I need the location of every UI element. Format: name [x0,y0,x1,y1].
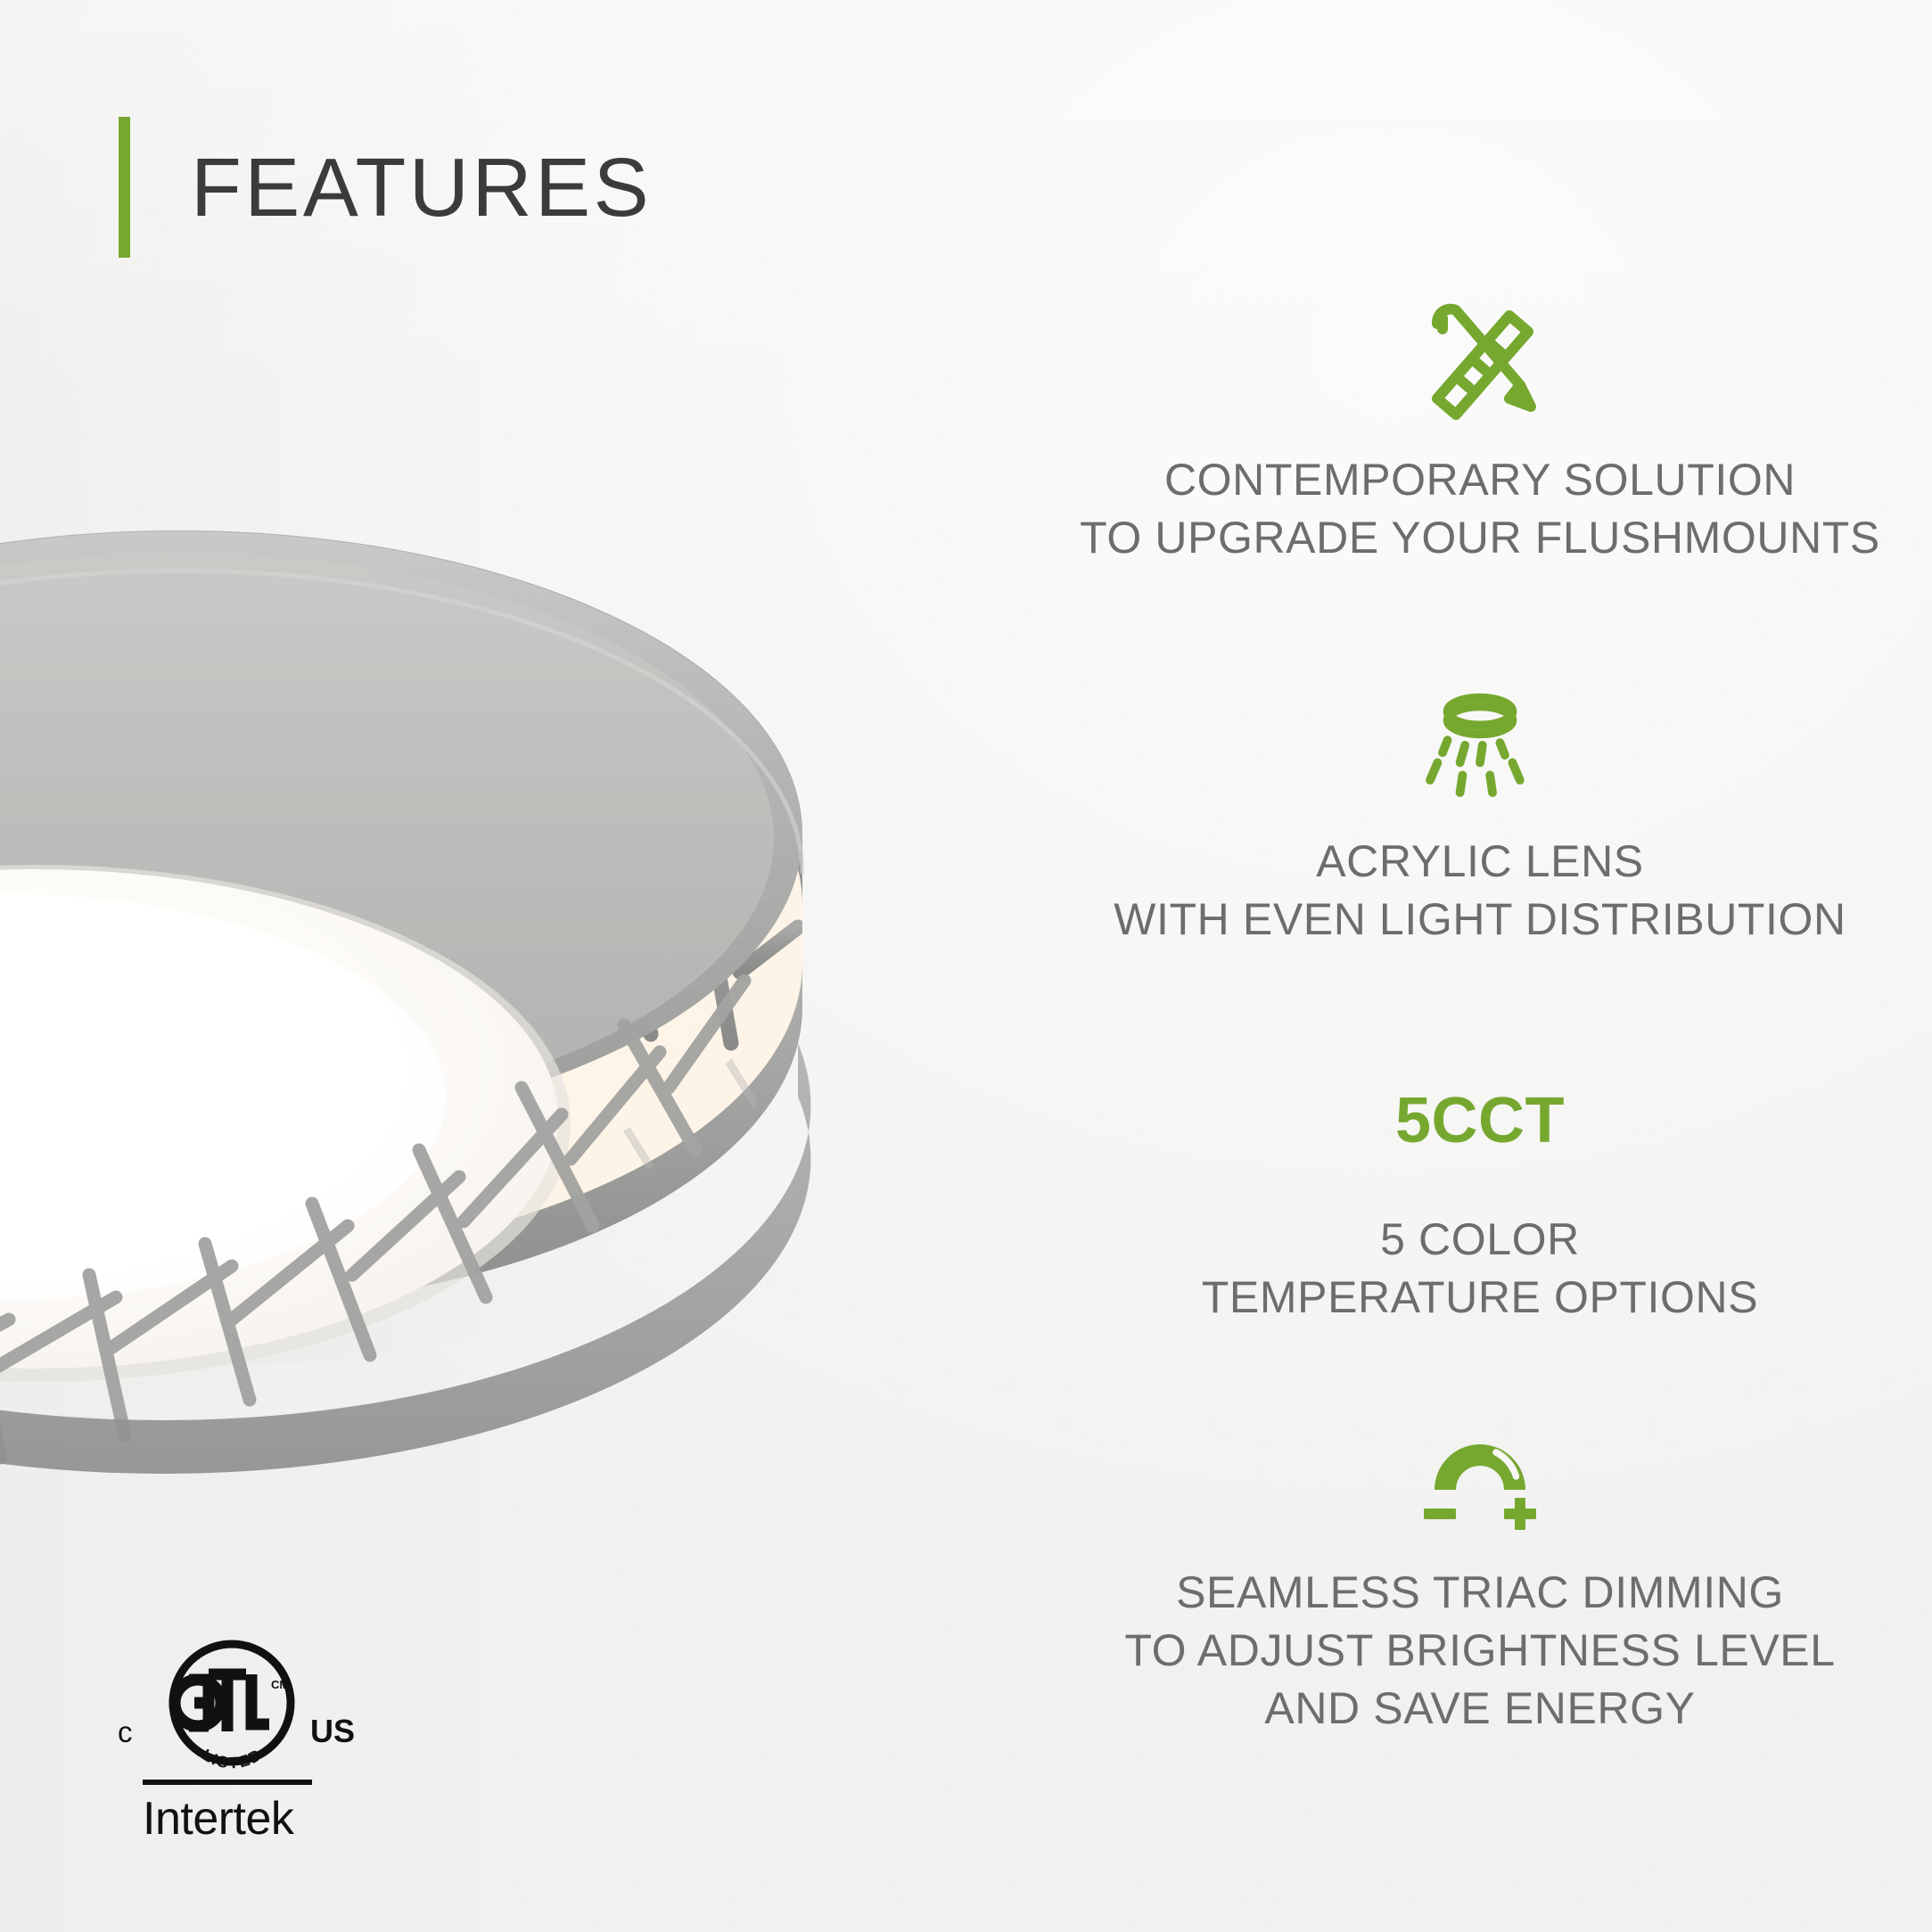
page-title: FEATURES [191,146,652,229]
feature-text: 5 COLOR TEMPERATURE OPTIONS [1052,1211,1908,1327]
dimmer-arc-icon [1052,1407,1908,1541]
feature-text: CONTEMPORARY SOLUTION TO UPGRADE YOUR FL… [1052,451,1908,567]
etl-trademark-text: CM [271,1678,289,1691]
feature-item-5cct: 5CCT 5 COLOR TEMPERATURE OPTIONS [1052,1054,1908,1327]
cct-headline: 5CCT [1052,1054,1908,1188]
etl-divider [143,1780,312,1785]
product-illustration [0,419,856,1542]
ceiling-light-rays-icon [1052,676,1908,810]
etl-certification-badge: c US CM LISTED Interte [112,1639,351,1842]
feature-text: SEAMLESS TRIAC DIMMING TO ADJUST BRIGHTN… [1052,1564,1908,1738]
page-header: FEATURES [119,117,652,258]
feature-item-acrylic-lens: ACRYLIC LENS WITH EVEN LIGHT DISTRIBUTIO… [1052,676,1908,949]
feature-text: ACRYLIC LENS WITH EVEN LIGHT DISTRIBUTIO… [1052,833,1908,949]
etl-brand-label: Intertek [143,1796,351,1842]
feature-item-triac-dimming: SEAMLESS TRIAC DIMMING TO ADJUST BRIGHTN… [1052,1407,1908,1738]
etl-circle-icon: CM LISTED [112,1639,351,1772]
feature-item-contemporary-solution: CONTEMPORARY SOLUTION TO UPGRADE YOUR FL… [1052,294,1908,567]
etl-listed-text: LISTED [199,1745,266,1772]
feature-infographic-page: FEATURES [0,0,1932,1932]
accent-bar [119,117,130,258]
product-image [0,419,856,1542]
etl-mark: c US CM LISTED [112,1639,351,1772]
ruler-and-pen-icon [1052,294,1908,428]
